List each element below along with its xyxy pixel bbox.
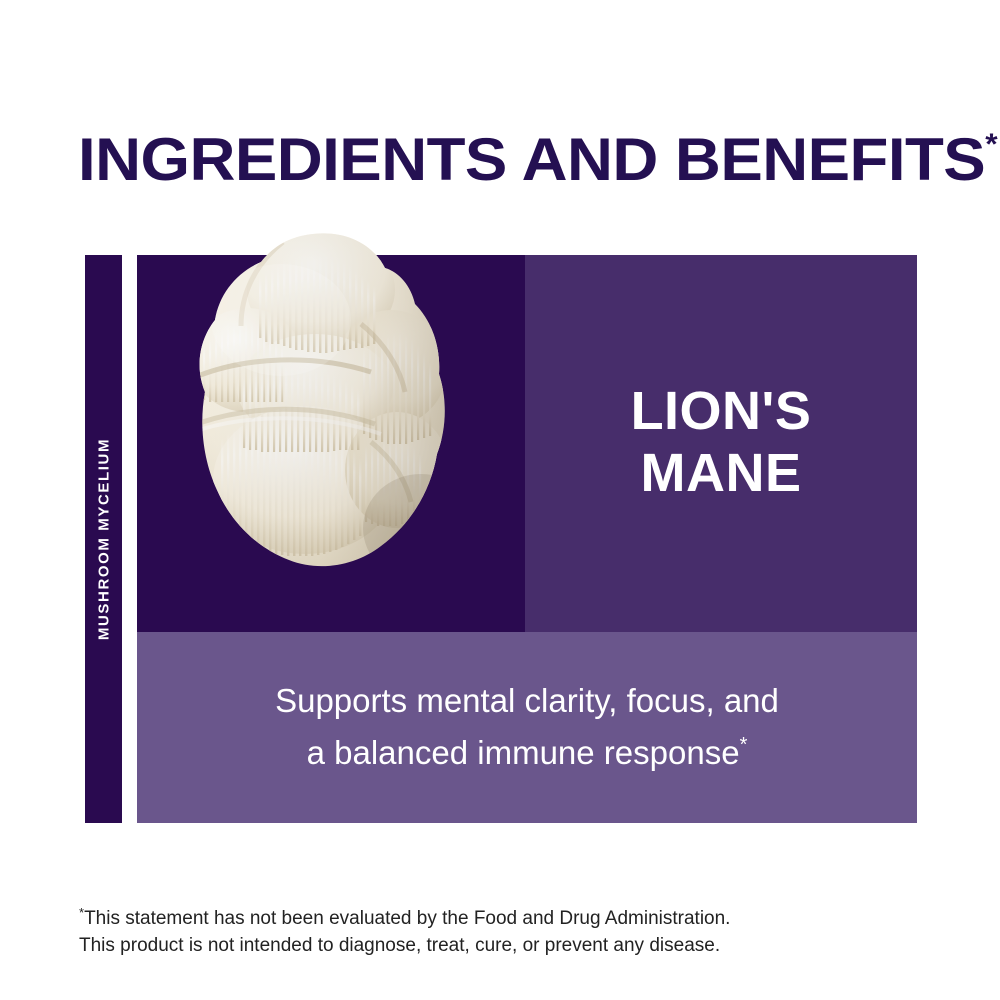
disclaimer-text: This statement has not been evaluated by… [79,908,730,956]
ingredient-card: LION'S MANE Supports mental clarity, foc… [137,255,917,823]
ingredient-claim: Supports mental clarity, focus, and a ba… [235,678,819,775]
ingredients-benefits-panel: INGREDIENTS AND BENEFITS* MUSHROOM MYCEL… [0,0,1000,1000]
ingredient-claim-text: Supports mental clarity, focus, and a ba… [275,682,779,771]
page-title-asterisk: * [985,128,997,161]
page-title: INGREDIENTS AND BENEFITS* [78,113,1000,183]
ingredient-name-pane: LION'S MANE [525,255,917,632]
category-bar-label: MUSHROOM MYCELIUM [95,438,112,640]
ingredient-claim-asterisk: * [740,734,748,756]
page-title-text: INGREDIENTS AND BENEFITS [78,126,985,193]
lions-mane-mushroom-icon [185,228,457,596]
ingredient-name: LION'S MANE [631,380,812,504]
ingredient-card-top: LION'S MANE [137,255,917,632]
category-bar: MUSHROOM MYCELIUM [85,255,122,823]
ingredient-claim-pane: Supports mental clarity, focus, and a ba… [137,632,917,823]
ingredient-photo-pane [137,255,525,632]
disclaimer: *This statement has not been evaluated b… [79,899,919,959]
